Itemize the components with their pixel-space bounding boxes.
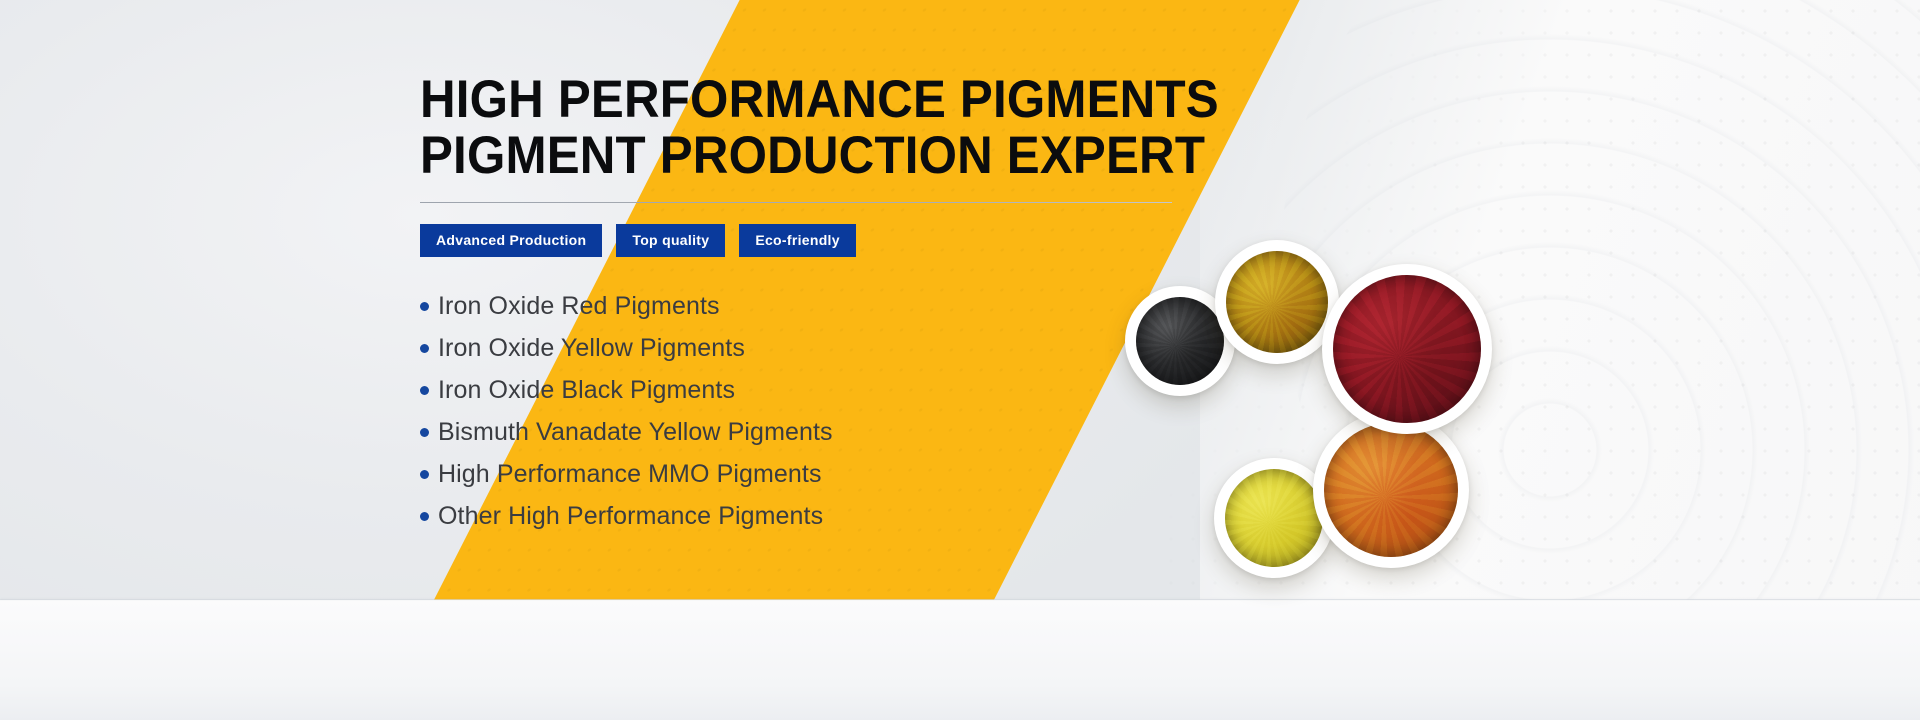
iron-oxide-red-powder: [1333, 275, 1481, 423]
list-item[interactable]: Bismuth Vanadate Yellow Pigments: [420, 411, 1200, 453]
badge-eco-friendly[interactable]: Eco-friendly: [739, 224, 856, 257]
list-item-label: Bismuth Vanadate Yellow Pigments: [438, 420, 833, 445]
bullet-dot-icon: [420, 428, 429, 437]
shelf-surface: [0, 600, 1920, 720]
list-item-label: Iron Oxide Black Pigments: [438, 378, 735, 403]
iron-oxide-ochre-powder: [1226, 251, 1328, 353]
badge-top-quality[interactable]: Top quality: [616, 224, 725, 257]
pigment-dish-red[interactable]: [1322, 264, 1492, 434]
badge-group: Advanced Production Top quality Eco-frie…: [420, 224, 1200, 257]
list-item-label: Iron Oxide Yellow Pigments: [438, 336, 745, 361]
pigment-dish-orange[interactable]: [1313, 412, 1469, 568]
bismuth-vanadate-yellow-powder: [1225, 469, 1323, 567]
list-item[interactable]: Iron Oxide Red Pigments: [420, 285, 1200, 327]
bullet-dot-icon: [420, 386, 429, 395]
list-item[interactable]: Other High Performance Pigments: [420, 495, 1200, 537]
list-item[interactable]: Iron Oxide Black Pigments: [420, 369, 1200, 411]
title-divider: [420, 202, 1172, 203]
iron-oxide-orange-powder: [1324, 423, 1458, 557]
hero-banner: HIGH PERFORMANCE PIGMENTS PIGMENT PRODUC…: [0, 0, 1920, 720]
list-item-label: Other High Performance Pigments: [438, 504, 823, 529]
bullet-dot-icon: [420, 344, 429, 353]
bullet-dot-icon: [420, 470, 429, 479]
list-item-label: High Performance MMO Pigments: [438, 462, 822, 487]
banner-content: HIGH PERFORMANCE PIGMENTS PIGMENT PRODUC…: [420, 72, 1200, 537]
pigment-dish-ochre[interactable]: [1215, 240, 1339, 364]
headline-line-1: HIGH PERFORMANCE PIGMENTS: [420, 70, 1219, 129]
list-item[interactable]: Iron Oxide Yellow Pigments: [420, 327, 1200, 369]
product-list: Iron Oxide Red Pigments Iron Oxide Yello…: [420, 285, 1200, 537]
headline-line-2: PIGMENT PRODUCTION EXPERT: [420, 128, 1145, 184]
bullet-dot-icon: [420, 512, 429, 521]
list-item-label: Iron Oxide Red Pigments: [438, 294, 720, 319]
badge-advanced-production[interactable]: Advanced Production: [420, 224, 602, 257]
list-item[interactable]: High Performance MMO Pigments: [420, 453, 1200, 495]
page-title: HIGH PERFORMANCE PIGMENTS PIGMENT PRODUC…: [420, 72, 1145, 184]
bullet-dot-icon: [420, 302, 429, 311]
